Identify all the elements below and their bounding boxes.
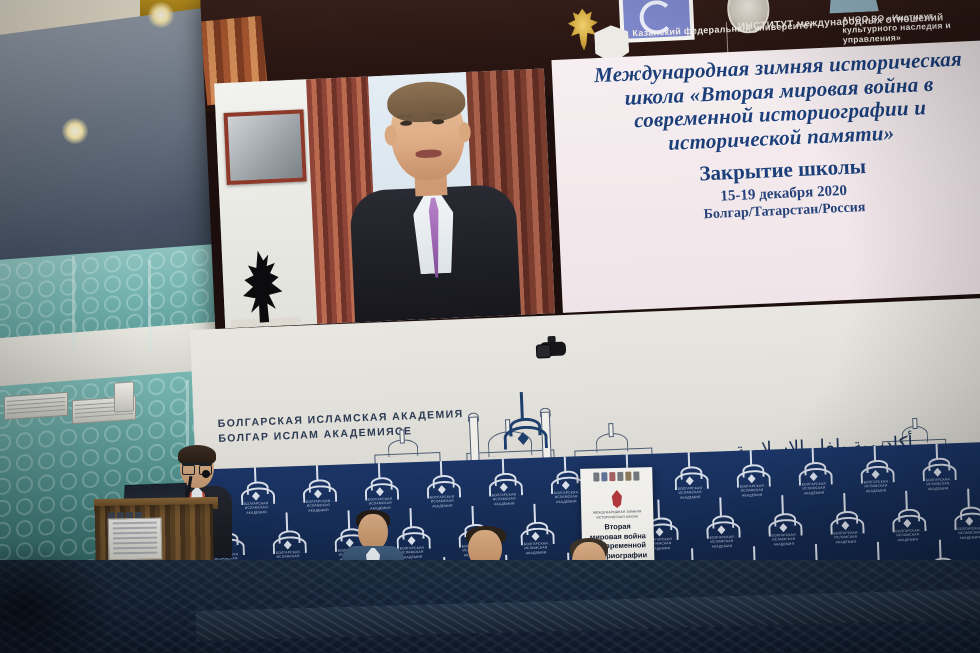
presentation-slide: Международная зимняя историческая школа …	[551, 40, 980, 313]
mosque-element	[468, 412, 479, 421]
backdrop-logo-icon: БОЛГАРСКАЯ ИСЛАМСКАЯ АКАДЕМИЯ	[919, 441, 955, 486]
backdrop-logo-icon: БОЛГАРСКАЯ ИСЛАМСКАЯ АКАДЕМИЯ	[951, 488, 980, 535]
glass-mullion-2	[148, 260, 151, 352]
glass-mullion-1	[72, 256, 75, 348]
podium-microphone-icon	[202, 470, 210, 478]
led-video-wall: ФОНД ИСТОРИЯ ОТЕЧЕСТВА РОССИЙСКОЕ ИСТОРИ…	[200, 0, 980, 337]
backdrop-logo-icon: БОЛГАРСКАЯ ИСЛАМСКАЯ АКАДЕМИЯ	[270, 512, 306, 559]
rollup-mark-caption: МЕЖДУНАРОДНАЯ ЗИМНЯЯ ИСТОРИЧЕСКАЯ ШКОЛА	[585, 509, 649, 520]
ptz-camera-icon	[536, 339, 569, 360]
ac-control-box	[114, 381, 134, 412]
backdrop-logo-icon: БОЛГАРСКАЯ ИСЛАМСКАЯ АКАДЕМИЯ	[795, 444, 831, 491]
foreground-shadow	[0, 540, 120, 653]
backdrop-logo-icon: БОЛГАРСКАЯ ИСЛАМСКАЯ АКАДЕМИЯ	[548, 452, 584, 499]
mosque-element	[399, 429, 405, 443]
feed-framed-picture	[224, 109, 307, 185]
mosque-element	[608, 423, 614, 437]
rollup-logo-row	[583, 469, 649, 484]
backdrop-logo-icon: БОЛГАРСКАЯ ИСЛАМСКАЯ АКАДЕМИЯ	[765, 495, 801, 542]
backdrop-logo-icon: БОЛГАРСКАЯ ИСЛАМСКАЯ АКАДЕМИЯ	[238, 463, 274, 510]
logo-label-cultural-heritage: АНОО ВО «Институт культурного наследия и…	[842, 9, 980, 46]
backdrop-logo-icon: БОЛГАРСКАЯ ИСЛАМСКАЯ АКАДЕМИЯ	[672, 448, 708, 495]
downlight	[148, 2, 174, 28]
backdrop-logo-icon: БОЛГАРСКАЯ ИСЛАМСКАЯ АКАДЕМИЯ	[703, 497, 739, 544]
academy-dome-logo-icon	[499, 391, 547, 455]
backdrop-logo-icon: БОЛГАРСКАЯ ИСЛАМСКАЯ АКАДЕМИЯ	[734, 446, 770, 493]
backdrop-logo-icon: БОЛГАРСКАЯ ИСЛАМСКАЯ АКАДЕМИЯ	[486, 454, 522, 501]
mosque-element-small	[912, 418, 917, 429]
backdrop-logo-icon: БОЛГАРСКАЯ ИСЛАМСКАЯ АКАДЕМИЯ	[362, 459, 398, 506]
downlight	[62, 118, 88, 144]
video-conference-feed	[214, 68, 555, 328]
backdrop-logo-icon: БОЛГАРСКАЯ ИСЛАМСКАЯ АКАДЕМИЯ	[889, 490, 925, 537]
rollup-flame-logo-icon	[610, 490, 624, 508]
backdrop-logo-icon: БОЛГАРСКАЯ ИСЛАМСКАЯ АКАДЕМИЯ	[857, 441, 893, 488]
backdrop-logo-icon: БОЛГАРСКАЯ ИСЛАМСКАЯ АКАДЕМИЯ	[424, 457, 460, 504]
conference-hall-photo: ФОНД ИСТОРИЯ ОТЕЧЕСТВА РОССИЙСКОЕ ИСТОРИ…	[0, 0, 980, 653]
ventilation-grille-1	[4, 392, 68, 420]
backdrop-logo-icon: БОЛГАРСКАЯ ИСЛАМСКАЯ АКАДЕМИЯ	[827, 492, 863, 539]
mosque-element	[469, 416, 480, 462]
russian-historical-society-icon	[822, 0, 884, 14]
backdrop-logo-icon: БОЛГАРСКАЯ ИСЛАМСКАЯ АКАДЕМИЯ	[300, 461, 336, 508]
